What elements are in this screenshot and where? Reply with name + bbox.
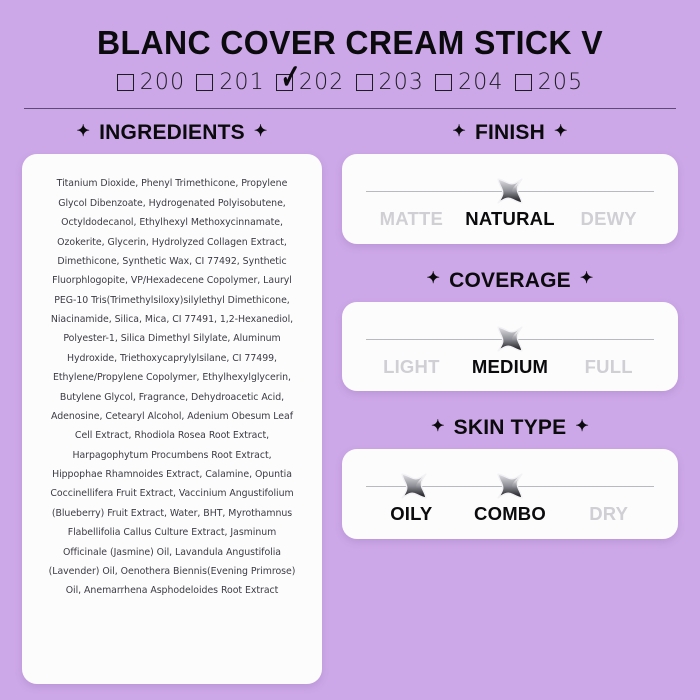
scale-labels: LIGHTMEDIUMFULL <box>362 357 658 377</box>
scale-track[interactable] <box>366 328 654 350</box>
page-title: BLANC COVER CREAM STICK V <box>32 26 668 61</box>
scale-card: LIGHTMEDIUMFULL <box>342 302 678 391</box>
scale-heading-label: COVERAGE <box>449 270 571 291</box>
shade-number-label: 200 <box>140 72 186 94</box>
shade-option-201[interactable]: 201 <box>196 72 265 94</box>
shade-number-label: 205 <box>538 72 584 94</box>
scale-marker-icon[interactable] <box>394 466 434 506</box>
scale-labels: MATTENATURALDEWY <box>362 209 658 229</box>
scale-option-medium[interactable]: MEDIUM <box>461 357 560 377</box>
content-area: ✦ INGREDIENTS ✦ Titanium Dioxide, Phenyl… <box>22 109 678 684</box>
shade-option-205[interactable]: 205 <box>515 72 584 94</box>
sparkle-icon: ✦ <box>431 419 445 435</box>
checkbox-icon[interactable] <box>435 74 452 91</box>
checkbox-icon[interactable] <box>117 74 134 91</box>
scale-heading-label: FINISH <box>475 122 545 143</box>
scale-section-skin-type: ✦SKIN TYPE✦ <box>342 417 678 538</box>
shade-option-200[interactable]: 200 <box>117 72 186 94</box>
checkbox-icon[interactable] <box>515 74 532 91</box>
checkbox-icon[interactable]: ✓ <box>276 74 293 91</box>
sparkle-icon: ✦ <box>254 124 268 140</box>
ingredients-list: Titanium Dioxide, Phenyl Trimethicone, P… <box>47 174 296 600</box>
scale-option-natural[interactable]: NATURAL <box>461 209 560 229</box>
scale-heading: ✦FINISH✦ <box>342 122 678 143</box>
ingredients-heading: ✦ INGREDIENTS ✦ <box>22 122 322 143</box>
scale-card: OILYCOMBODRY <box>342 449 678 538</box>
shade-option-203[interactable]: 203 <box>356 72 425 94</box>
scale-section-finish: ✦FINISH✦ MATTENATURALDEWY <box>342 122 678 243</box>
scale-card: MATTENATURALDEWY <box>342 154 678 243</box>
attributes-column: ✦FINISH✦ MATTENATURALDEWY✦COVERAGE✦ <box>342 122 678 684</box>
sparkle-icon: ✦ <box>452 124 466 140</box>
scale-marker-icon[interactable] <box>490 466 530 506</box>
scale-option-dewy[interactable]: DEWY <box>559 209 658 229</box>
scale-option-light[interactable]: LIGHT <box>362 357 461 377</box>
ingredients-heading-label: INGREDIENTS <box>99 122 245 143</box>
sparkle-icon: ✦ <box>77 124 91 140</box>
scale-option-full[interactable]: FULL <box>559 357 658 377</box>
sparkle-icon: ✦ <box>426 271 440 287</box>
shade-selector: 200201✓202203204205 <box>22 72 678 94</box>
sparkle-icon: ✦ <box>580 271 594 287</box>
scale-labels: OILYCOMBODRY <box>362 504 658 524</box>
scale-section-coverage: ✦COVERAGE✦ LIGHTMEDIUMFULL <box>342 270 678 391</box>
header-divider <box>24 108 676 110</box>
shade-option-202[interactable]: ✓202 <box>276 72 345 94</box>
sparkle-icon: ✦ <box>554 124 568 140</box>
scale-heading: ✦SKIN TYPE✦ <box>342 417 678 438</box>
shade-number-label: 202 <box>299 72 345 94</box>
scale-marker-icon[interactable] <box>490 319 530 359</box>
checkbox-icon[interactable] <box>196 74 213 91</box>
header: BLANC COVER CREAM STICK V 200201✓2022032… <box>22 26 678 109</box>
scale-option-matte[interactable]: MATTE <box>362 209 461 229</box>
scale-heading: ✦COVERAGE✦ <box>342 270 678 291</box>
scale-marker-icon[interactable] <box>490 171 530 211</box>
ingredients-column: ✦ INGREDIENTS ✦ Titanium Dioxide, Phenyl… <box>22 122 322 684</box>
ingredients-card: Titanium Dioxide, Phenyl Trimethicone, P… <box>22 154 322 684</box>
scale-track[interactable] <box>366 180 654 202</box>
scale-heading-label: SKIN TYPE <box>454 417 567 438</box>
scale-option-oily[interactable]: OILY <box>362 504 461 524</box>
shade-option-204[interactable]: 204 <box>435 72 504 94</box>
product-info-card: BLANC COVER CREAM STICK V 200201✓2022032… <box>0 0 700 700</box>
sparkle-icon: ✦ <box>575 419 589 435</box>
check-icon: ✓ <box>280 61 300 96</box>
checkbox-icon[interactable] <box>356 74 373 91</box>
scale-track[interactable] <box>366 475 654 497</box>
shade-number-label: 201 <box>219 72 265 94</box>
scale-option-combo[interactable]: COMBO <box>461 504 560 524</box>
shade-number-label: 203 <box>379 72 425 94</box>
shade-number-label: 204 <box>458 72 504 94</box>
scale-option-dry[interactable]: DRY <box>559 504 658 524</box>
